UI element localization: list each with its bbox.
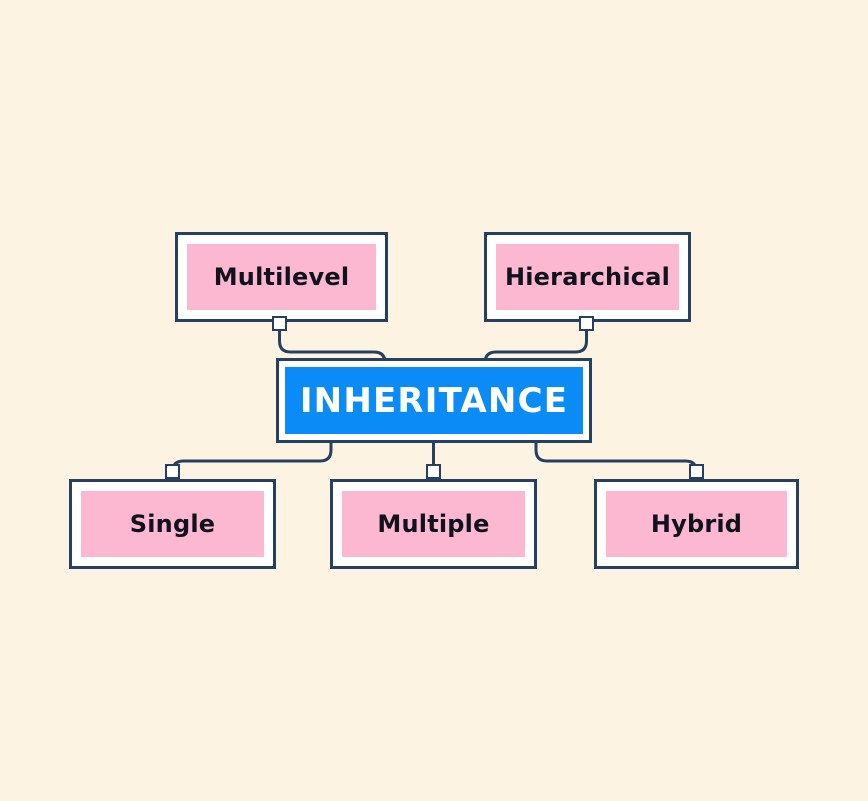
- node-hierarchical[interactable]: Hierarchical: [484, 232, 691, 322]
- node-hybrid-label: Hybrid: [651, 510, 742, 538]
- node-inheritance-label: INHERITANCE: [300, 381, 568, 421]
- inheritance-diagram: Multilevel Hierarchical INHERITANCE Sing…: [0, 0, 868, 801]
- junction-multilevel: [272, 316, 287, 331]
- node-multiple-fill: Multiple: [342, 491, 525, 557]
- node-hierarchical-label: Hierarchical: [505, 263, 670, 291]
- edge-inheritance-to-hybrid: [536, 442, 697, 479]
- node-multiple[interactable]: Multiple: [330, 479, 537, 569]
- node-multilevel-fill: Multilevel: [187, 244, 376, 310]
- node-multilevel[interactable]: Multilevel: [175, 232, 388, 322]
- node-inheritance-fill: INHERITANCE: [285, 367, 583, 434]
- junction-single: [165, 464, 180, 479]
- edge-inheritance-to-single: [173, 442, 332, 479]
- node-hierarchical-fill: Hierarchical: [496, 244, 679, 310]
- junction-hierarchical: [579, 316, 594, 331]
- node-hybrid-fill: Hybrid: [606, 491, 787, 557]
- junction-multiple: [426, 464, 441, 479]
- node-inheritance[interactable]: INHERITANCE: [276, 358, 592, 443]
- node-multilevel-label: Multilevel: [214, 263, 350, 291]
- node-multiple-label: Multiple: [377, 510, 489, 538]
- node-single-fill: Single: [81, 491, 264, 557]
- junction-hybrid: [689, 464, 704, 479]
- node-single-label: Single: [130, 510, 215, 538]
- node-hybrid[interactable]: Hybrid: [594, 479, 799, 569]
- node-single[interactable]: Single: [69, 479, 276, 569]
